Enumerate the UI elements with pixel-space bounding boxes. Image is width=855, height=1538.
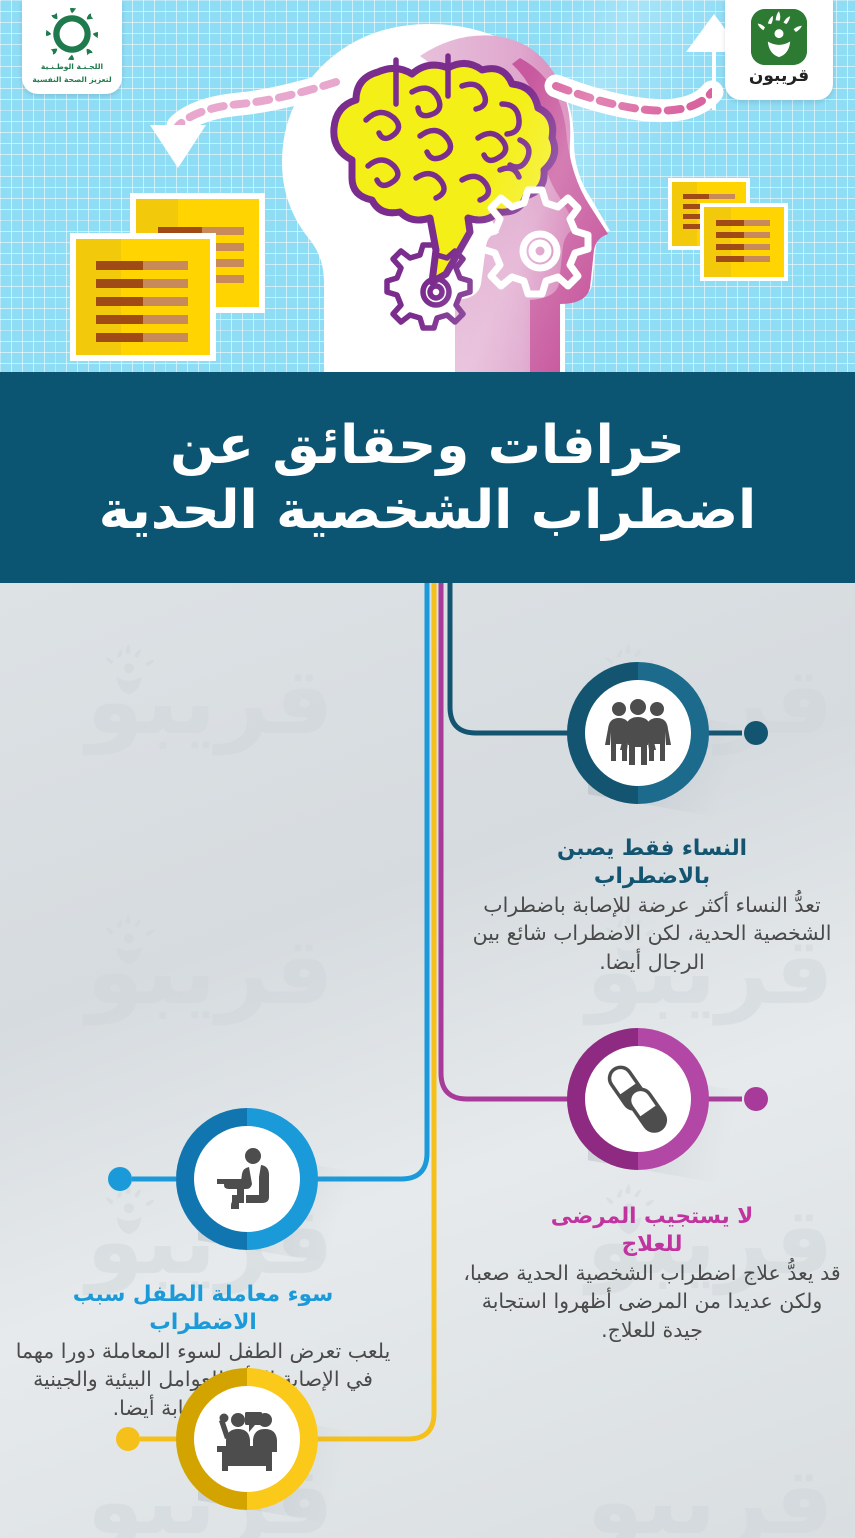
card-women-only-icon-bubble[interactable] — [567, 662, 709, 804]
infographic-page: اللجـنـة الوطـنـية لتعزيز الصحة النفسية … — [0, 0, 855, 1538]
card-women-only-heading-line2: بالاضطراب — [594, 864, 710, 889]
card-no-treatment-icon-bubble[interactable] — [567, 1028, 709, 1170]
card-women-only-body: تعدُّ النساء أكثر عرضة للإصابة باضطراب ا… — [462, 891, 842, 976]
national-committee-logo: اللجـنـة الوطـنـية لتعزيز الصحة النفسية — [22, 0, 122, 94]
card-women-only-heading-line1: النساء فقط يصبن — [557, 836, 747, 861]
header-illustration-area: اللجـنـة الوطـنـية لتعزيز الصحة النفسية … — [0, 0, 855, 374]
page-title-line-2: اضطراب الشخصية الحدية — [99, 482, 756, 539]
title-bar: خرافات وحقائق عن اضطراب الشخصية الحدية — [0, 372, 855, 584]
card-no-treatment-heading-line1: لا يستجيب المرضى — [551, 1204, 754, 1229]
card-child-abuse-heading-line1: سوء معاملة الطفل سبب — [73, 1282, 333, 1307]
myths-facts-body: قريبو قريبو — [0, 583, 855, 1538]
card-attention-icon-bubble[interactable] — [176, 1368, 318, 1510]
card-no-treatment-body: قد يعدُّ علاج اضطراب الشخصية الحدية صعبا… — [462, 1259, 842, 1344]
national-committee-logo-line1: اللجـنـة الوطـنـية — [22, 62, 122, 73]
national-committee-logo-line2: لتعزيز الصحة النفسية — [22, 75, 122, 86]
page-title-line-1: خرافات وحقائق عن — [170, 417, 685, 474]
card-child-abuse-heading-line2: الاضطراب — [149, 1310, 256, 1335]
card-women-only-text: النساء فقط يصبن بالاضطراب تعدُّ النساء أ… — [462, 835, 842, 976]
people-at-desk-icon — [211, 1403, 283, 1475]
qareeboon-logo-label: قريبون — [725, 68, 833, 85]
seated-person-icon — [211, 1143, 283, 1215]
card-no-treatment-text: لا يستجيب المرضى للعلاج قد يعدُّ علاج اض… — [462, 1203, 842, 1344]
card-no-treatment-heading-line2: للعلاج — [622, 1232, 683, 1257]
three-women-icon — [602, 697, 674, 769]
card-child-abuse-icon-bubble[interactable] — [176, 1108, 318, 1250]
qareeboon-logo-mark — [751, 9, 807, 65]
qareeboon-logo: قريبون — [725, 0, 833, 100]
national-committee-logo-mark — [46, 8, 98, 60]
pills-capsules-icon — [602, 1063, 674, 1135]
